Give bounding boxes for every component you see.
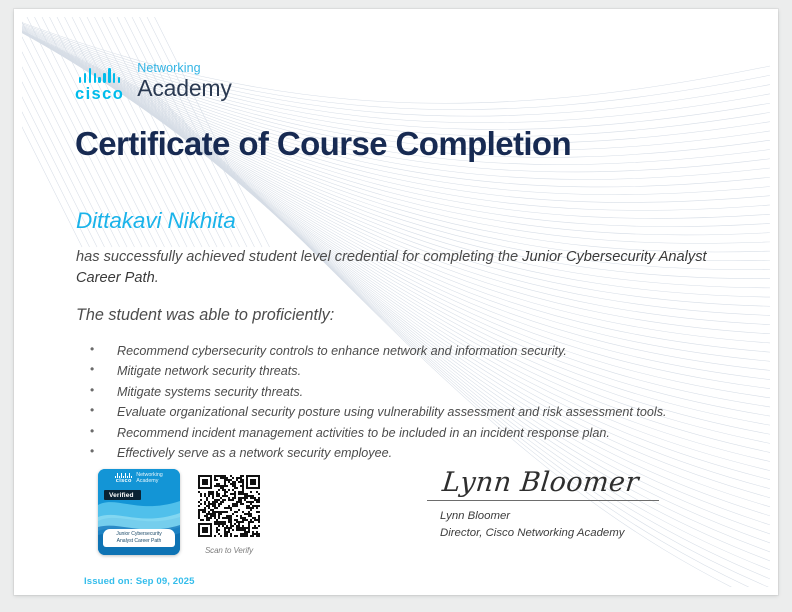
signature-block: Lynn Bloomer Lynn Bloomer Director, Cisc… [427,469,682,542]
statement-lead: has successfully achieved student level … [76,249,522,265]
status-badge: Verified [104,490,141,500]
list-item: Evaluate organizational security posture… [84,402,754,422]
recipient-name: Dittakavi Nikhita [76,210,236,233]
academy-wordmark: Networking Academy [137,62,231,103]
competencies-heading: The student was able to proficiently: [76,305,334,326]
cisco-bridge-icon [79,68,120,83]
cisco-wordmark: cisco [75,86,124,103]
certificate-title: Certificate of Course Completion [75,127,571,160]
signatory-name: Lynn Bloomer [427,508,682,525]
list-item: Recommend cybersecurity controls to enha… [84,341,754,361]
list-item: Mitigate network security threats. [84,361,754,381]
signature-script: Lynn Bloomer [427,469,685,496]
signatory-title: Director, Cisco Networking Academy [427,525,682,542]
badge-cisco-wordmark: cisco [116,479,132,485]
achievement-statement: has successfully achieved student level … [76,247,751,289]
list-item: Recommend incident management activities… [84,423,754,443]
list-item: Mitigate systems security threats. [84,382,754,402]
cisco-networking-academy-logo: cisco Networking Academy [75,62,232,103]
badge-logo: cisco Networking Academy [98,473,180,485]
badge-cisco-mark: cisco [115,473,132,485]
badge-credential-line2: Analyst Career Path [105,538,173,544]
qr-caption: Scan to Verify [198,546,260,555]
academy-line-academy: Academy [137,76,231,102]
credential-badge: cisco Networking Academy Verified Junior… [98,469,180,555]
badge-credential-ribbon: Junior Cybersecurity Analyst Career Path [103,529,175,547]
issue-date: Issued on: Sep 09, 2025 [84,576,195,587]
list-item: Effectively serve as a network security … [84,443,754,463]
badge-academy-line2: Academy [136,479,162,485]
badge-academy-wordmark: Networking Academy [136,473,162,484]
competencies-list: Recommend cybersecurity controls to enha… [84,341,754,463]
signature-rule [427,500,659,501]
cisco-logo-mark: cisco [75,68,124,103]
qr-code-icon[interactable] [198,475,260,537]
certificate-inner-frame: cisco Networking Academy Certificate of … [22,17,770,587]
verification-qr-block[interactable]: Scan to Verify [198,475,260,555]
academy-line-networking: Networking [137,62,231,76]
statement-trailing: . [155,270,159,286]
certificate-page: cisco Networking Academy Certificate of … [14,9,778,595]
